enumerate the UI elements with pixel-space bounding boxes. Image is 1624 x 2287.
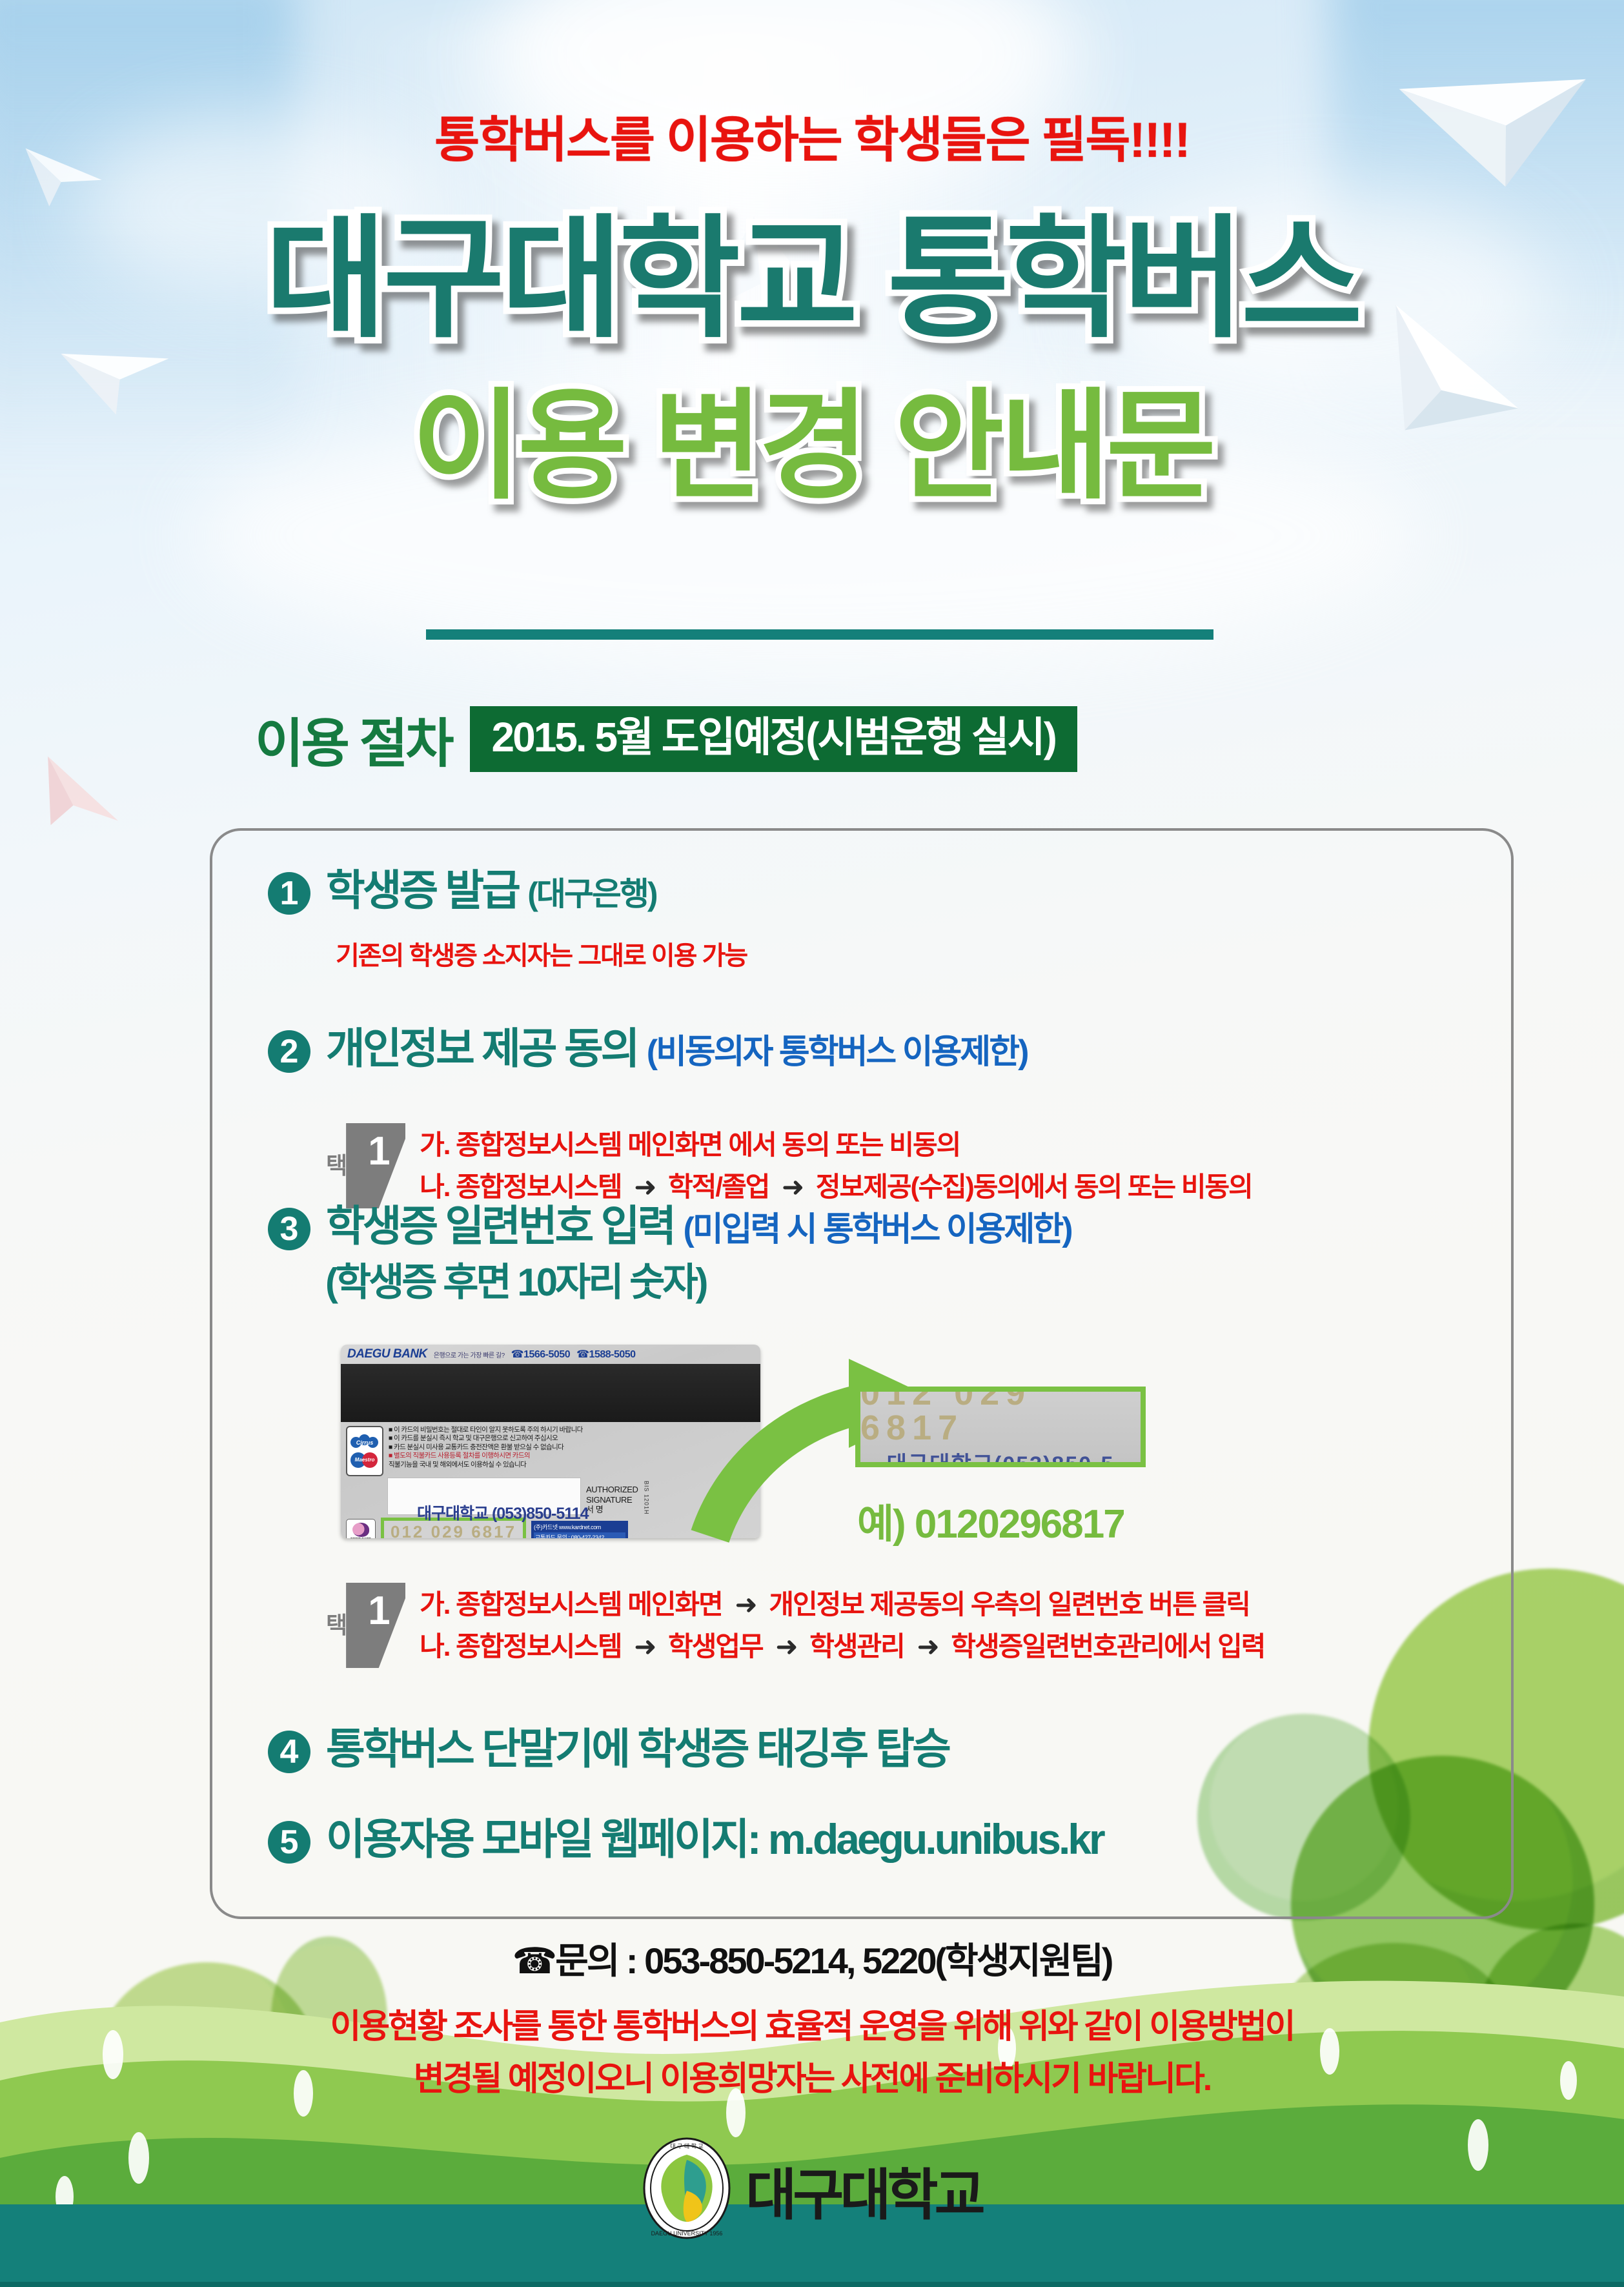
signature-label: SIGNATURE bbox=[586, 1495, 638, 1505]
debit-mark-shape bbox=[352, 1523, 369, 1537]
pick-lines-step2: 가. 종합정보시스템 메인화면 에서 동의 또는 비동의 나. 종합정보시스템 … bbox=[420, 1124, 1252, 1208]
step-2-main-text: 개인정보 제공 동의 bbox=[326, 1024, 637, 1072]
notice-line-2: 변경될 예정이오니 이용희망자는 사전에 준비하시기 바랍니다. bbox=[0, 2053, 1624, 2106]
signature-label-kr: 서 명 bbox=[586, 1505, 638, 1515]
step-1: 1 학생증 발급 (대구은행) bbox=[268, 868, 656, 915]
pick-arrow-step2: 1 bbox=[346, 1123, 405, 1208]
serial-example-text: 예) 0120296817 bbox=[857, 1491, 1124, 1549]
arrow-right-icon-3d: ➜ bbox=[910, 1631, 944, 1662]
section-badge: 2015. 5월 도입예정(시범운행 실시) bbox=[470, 706, 1077, 772]
step-2-title: 개인정보 제공 동의 (비동의자 통학버스 이용제한) bbox=[326, 1026, 1027, 1071]
step-3-line-b-p2: 학생업무 bbox=[668, 1631, 763, 1662]
step-number-5: 5 bbox=[268, 1821, 310, 1864]
step-number-2: 2 bbox=[268, 1030, 310, 1073]
step-number-4: 4 bbox=[268, 1731, 310, 1773]
notice-line-1: 이용현황 조사를 통한 통학버스의 효율적 운영을 위해 위와 같이 이용방법이 bbox=[0, 2001, 1624, 2053]
pick-lines-step3: 가. 종합정보시스템 메인화면 ➜ 개인정보 제공동의 우측의 일련번호 버튼 … bbox=[420, 1583, 1264, 1667]
step-number-1: 1 bbox=[268, 872, 310, 915]
mobile-webpage-url[interactable]: m.daegu.unibus.kr bbox=[768, 1815, 1103, 1863]
step-3-line-a: 가. 종합정보시스템 메인화면 ➜ 개인정보 제공동의 우측의 일련번호 버튼 … bbox=[420, 1583, 1264, 1625]
kardnet-name: (주)카드넷 bbox=[534, 1524, 558, 1530]
callout-ghost-kr: 대구대학교 bbox=[887, 1452, 994, 1467]
pick-one-group-step3: 택 1 가. 종합정보시스템 메인화면 ➜ 개인정보 제공동의 우측의 일련번호… bbox=[326, 1583, 1264, 1668]
step-2-paren: (비동의자 통학버스 이용제한) bbox=[647, 1033, 1028, 1071]
step-3-line-b-p1: 나. 종합정보시스템 bbox=[420, 1631, 621, 1662]
contact-line: ☎문의 : 053-850-5214, 5220(학생지원팀) bbox=[0, 1932, 1624, 1984]
university-brand: 대 구 대 학 교 DAEGU UNIVERSITY 1956 대구대학교 bbox=[0, 2137, 1624, 2243]
bank-tagline-text: 은행으로 가는 가장 빠른 길? bbox=[434, 1350, 505, 1359]
step-3-line-a-p1: 가. 종합정보시스템 메인화면 bbox=[420, 1589, 722, 1620]
cirrus-label: Cirrus bbox=[350, 1434, 379, 1451]
step-1-paren: (대구은행) bbox=[527, 876, 656, 912]
bank-name-text: DAEGU BANK bbox=[347, 1347, 427, 1361]
signature-labels: AUTHORIZED SIGNATURE 서 명 bbox=[586, 1485, 638, 1515]
poster-title-line2: 이용 변경 안내문 bbox=[0, 387, 1624, 507]
maestro-icon: Maestro bbox=[350, 1452, 379, 1469]
pick-number-step2: 1 bbox=[368, 1128, 390, 1174]
step-2: 2 개인정보 제공 동의 (비동의자 통학버스 이용제한) bbox=[268, 1026, 1027, 1073]
step-3-line-b-p4: 학생증일련번호관리에서 입력 bbox=[951, 1631, 1264, 1662]
step-1-main-text: 학생증 발급 bbox=[326, 866, 518, 914]
poster-root: 통학버스를 이용하는 학생들은 필독!!!! 대구대학교 통학버스 이용 변경 … bbox=[0, 0, 1624, 2287]
paper-plane-icon-6 bbox=[15, 749, 134, 859]
footer-teal-edge bbox=[0, 2282, 1624, 2287]
step-5: 5 이용자용 모바일 웹페이지: m.daegu.unibus.kr bbox=[268, 1817, 1103, 1864]
step-3-line-b-p3: 학생관리 bbox=[809, 1631, 904, 1662]
step-number-3: 3 bbox=[268, 1208, 310, 1250]
step-5-main-text: 이용자용 모바일 웹페이지: bbox=[326, 1815, 759, 1863]
pick-label-step2: 택 bbox=[326, 1155, 346, 1177]
step-2-line-b-p2: 학적/졸업 bbox=[668, 1172, 769, 1202]
arrow-right-icon-3a: ➜ bbox=[728, 1589, 762, 1620]
step-3-title: 학생증 일련번호 입력 (미입력 시 통학버스 이용제한) bbox=[326, 1204, 1071, 1248]
card-vertical-code: BIS 1201H bbox=[644, 1481, 650, 1515]
notice-text: 이용현황 조사를 통한 통학버스의 효율적 운영을 위해 위와 같이 이용방법이… bbox=[0, 2001, 1624, 2105]
arrow-right-icon-3b: ➜ bbox=[627, 1631, 662, 1662]
step-5-title: 이용자용 모바일 웹페이지: m.daegu.unibus.kr bbox=[326, 1817, 1103, 1862]
step-2-line-a: 가. 종합정보시스템 메인화면 에서 동의 또는 비동의 bbox=[420, 1124, 1252, 1166]
maestro-label: Maestro bbox=[350, 1452, 379, 1469]
section-header: 이용 절차 2015. 5월 도입예정(시범운행 실시) bbox=[255, 700, 1077, 777]
cirrus-icon: Cirrus bbox=[350, 1434, 379, 1451]
step-3-paren2: (학생증 후면 10자리 숫자) bbox=[325, 1262, 706, 1303]
callout-ghost-num: (053)850-5 bbox=[994, 1452, 1114, 1467]
callout-ghost-text: 대구대학교(053)850-5 bbox=[887, 1447, 1115, 1467]
bank-tel-2: ☎1588-5050 bbox=[576, 1348, 635, 1361]
step-3-line-a-p2: 개인정보 제공동의 우측의 일련번호 버튼 클릭 bbox=[769, 1589, 1250, 1620]
poster-title-line1: 대구대학교 통학버스 bbox=[0, 213, 1624, 345]
step-2-line-b-p1: 나. 종합정보시스템 bbox=[420, 1172, 621, 1202]
step-3-paren: (미입력 시 통학버스 이용제한) bbox=[684, 1211, 1071, 1248]
serial-zoom-callout: 012 029 6817 대구대학교(053)850-5 bbox=[855, 1387, 1146, 1467]
pick-one-group-step2: 택 1 가. 종합정보시스템 메인화면 에서 동의 또는 비동의 나. 종합정보… bbox=[326, 1123, 1252, 1208]
step-1-subtext: 기존의 학생증 소지자는 그대로 이용 가능 bbox=[336, 935, 747, 972]
bank-tel-1: ☎1566-5050 bbox=[511, 1348, 570, 1361]
kicker-text: 통학버스를 이용하는 학생들은 필독!!!! bbox=[0, 100, 1624, 171]
debit-card-icon: DEBIT CARD bbox=[346, 1519, 376, 1539]
university-brand-name: 대구대학교 bbox=[746, 2150, 982, 2230]
step-3: 3 학생증 일련번호 입력 (미입력 시 통학버스 이용제한) bbox=[268, 1204, 1071, 1250]
step-1-title: 학생증 발급 (대구은행) bbox=[326, 868, 656, 913]
card-network-logos: Cirrus Maestro bbox=[346, 1426, 383, 1476]
arrow-right-icon-3c: ➜ bbox=[769, 1631, 803, 1662]
pick-arrow-step3: 1 bbox=[346, 1583, 405, 1668]
step-4: 4 통학버스 단말기에 학생증 태깅후 탑승 bbox=[268, 1727, 949, 1773]
step-3-main-text: 학생증 일련번호 입력 bbox=[326, 1202, 674, 1250]
arrow-right-icon-2b: ➜ bbox=[775, 1172, 809, 1202]
pick-number-step3: 1 bbox=[368, 1588, 390, 1634]
step-2-line-b-p3: 정보제공(수집)동의에서 동의 또는 비동의 bbox=[816, 1172, 1252, 1202]
svg-text:대 구 대 학 교: 대 구 대 학 교 bbox=[670, 2143, 703, 2150]
kardnet-url: www.kardnet.com bbox=[559, 1524, 601, 1530]
kardnet-line-2: 교통카드 문의 : 080-427-2342 bbox=[534, 1532, 625, 1539]
pick-label-step3: 택 bbox=[326, 1614, 346, 1636]
university-logo-icon: 대 구 대 학 교 DAEGU UNIVERSITY 1956 bbox=[642, 2137, 731, 2243]
svg-text:DAEGU UNIVERSITY 1956: DAEGU UNIVERSITY 1956 bbox=[651, 2230, 723, 2237]
section-title: 이용 절차 bbox=[255, 700, 452, 777]
authorized-label: AUTHORIZED bbox=[586, 1485, 638, 1495]
debit-card-label: DEBIT CARD bbox=[350, 1538, 371, 1538]
step-3-line-b: 나. 종합정보시스템 ➜ 학생업무 ➜ 학생관리 ➜ 학생증일련번호관리에서 입… bbox=[420, 1625, 1264, 1667]
callout-serial-number: 012 029 6817 bbox=[860, 1387, 1141, 1445]
arrow-right-icon-2a: ➜ bbox=[627, 1172, 662, 1202]
step-4-title: 통학버스 단말기에 학생증 태깅후 탑승 bbox=[326, 1727, 949, 1771]
title-divider bbox=[426, 629, 1213, 640]
card-university-phone: 대구대학교 (053)850-5114 bbox=[417, 1501, 589, 1524]
